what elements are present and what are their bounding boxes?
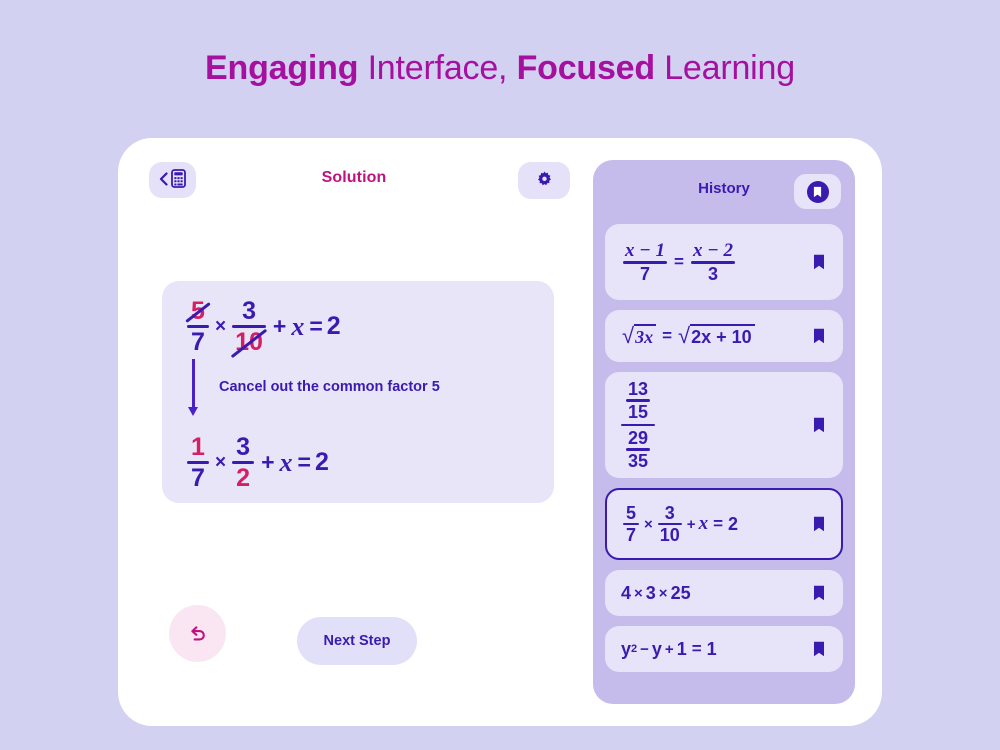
- fraction-3-over-10: 3 10: [658, 503, 682, 546]
- fraction-5-over-7: 5 7: [187, 297, 209, 356]
- equals-symbol: =: [713, 514, 723, 534]
- next-step-button[interactable]: Next Step: [297, 617, 417, 665]
- history-item-expression: 5 7 × 3 10 + x = 2: [621, 503, 811, 546]
- history-item-expression: y 2 − y + 1 = 1: [621, 639, 811, 660]
- fraction-3-over-2: 3 2: [232, 433, 254, 492]
- history-item-expression: 13 15 29 35: [621, 379, 811, 471]
- term-1: 1: [677, 639, 687, 660]
- topbar: Solution: [118, 138, 590, 218]
- solution-pane: Solution 5 7 ×: [118, 138, 590, 726]
- fraction-numerator: 3: [663, 503, 677, 523]
- fraction-1-over-7: 1 7: [187, 433, 209, 492]
- fraction-denominator: 7: [638, 264, 652, 284]
- radicand: 3x: [634, 324, 656, 348]
- arrow-down-icon: [192, 359, 195, 409]
- fraction-numerator: 1: [188, 433, 208, 461]
- equals-symbol: =: [662, 326, 672, 346]
- equation-before: 5 7 × 3 10 + x = 2: [186, 297, 341, 356]
- fraction-5-over-7: 5 7: [623, 503, 639, 546]
- headline-word-interface: Interface,: [368, 49, 508, 87]
- undo-arrow-icon: [187, 622, 208, 646]
- base-y: y: [621, 639, 631, 660]
- equals-symbol: =: [298, 449, 311, 476]
- solution-work-card: 5 7 × 3 10 + x = 2 Cancel out the: [162, 281, 554, 503]
- bookmarks-filter-button[interactable]: [794, 174, 841, 209]
- headline-word-focused: Focused: [517, 49, 655, 87]
- fraction-numerator: 5: [188, 297, 208, 325]
- history-header: History: [593, 160, 855, 224]
- radical-sign-icon: √: [622, 324, 634, 348]
- arrow-head-icon: [188, 407, 198, 416]
- fraction-upper: 13 15: [626, 379, 650, 422]
- fraction-denominator: 10: [658, 525, 682, 545]
- bookmark-icon[interactable]: [811, 641, 827, 657]
- history-item-4[interactable]: 5 7 × 3 10 + x = 2: [605, 488, 843, 560]
- history-item-expression: √ 3x = √ 2x + 10: [621, 324, 811, 348]
- fraction-denominator: 2: [233, 464, 253, 492]
- multiply-symbol: ×: [215, 316, 226, 338]
- variable-x: x: [280, 448, 293, 478]
- fraction-lower: 29 35: [626, 428, 650, 471]
- plus-symbol: +: [665, 641, 674, 658]
- fraction-denominator: 3: [706, 264, 720, 284]
- undo-button[interactable]: [169, 605, 226, 662]
- history-item-2[interactable]: √ 3x = √ 2x + 10: [605, 310, 843, 362]
- fraction-numerator: 3: [239, 297, 259, 325]
- multiply-symbol: ×: [215, 452, 226, 474]
- multiply-symbol: ×: [634, 585, 643, 602]
- fraction-numerator: x − 2: [691, 240, 735, 261]
- settings-button[interactable]: [518, 162, 570, 199]
- radical-left: √ 3x: [622, 324, 656, 348]
- factor-3: 25: [671, 583, 691, 604]
- fraction-numerator: 29: [626, 428, 650, 448]
- page-headline: Engaging Interface, Focused Learning: [0, 46, 1000, 90]
- multiply-symbol: ×: [659, 585, 668, 602]
- fraction-denominator: 7: [624, 525, 638, 545]
- fraction-numerator: 5: [624, 503, 638, 523]
- fraction-denominator: 35: [626, 451, 650, 471]
- headline-word-engaging: Engaging: [205, 49, 358, 87]
- variable-x: x: [291, 312, 304, 342]
- gear-icon: [536, 171, 553, 191]
- equation-result: 2: [327, 312, 341, 341]
- factor-1: 4: [621, 583, 631, 604]
- fraction-denominator: 10: [232, 328, 266, 356]
- fraction-right: x − 2 3: [691, 240, 735, 284]
- variable-x: x: [699, 513, 709, 535]
- fraction-3-over-10: 3 10: [232, 297, 266, 356]
- expression-result: 2: [728, 514, 738, 535]
- bookmark-icon[interactable]: [811, 417, 827, 433]
- equation-result: 2: [315, 448, 329, 477]
- main-fraction-bar: [621, 424, 655, 427]
- fraction-numerator: 13: [626, 379, 650, 399]
- step-note-text: Cancel out the common factor 5: [219, 379, 440, 395]
- fraction-left: x − 1 7: [623, 240, 667, 284]
- fraction-denominator: 15: [626, 402, 650, 422]
- radical-sign-icon: √: [678, 324, 690, 348]
- minus-symbol: −: [640, 641, 649, 658]
- equals-symbol: =: [692, 639, 702, 659]
- fraction-denominator: 7: [188, 328, 208, 356]
- nested-fraction: 13 15 29 35: [621, 379, 655, 471]
- bookmark-icon[interactable]: [811, 328, 827, 344]
- headline-word-learning: Learning: [664, 49, 795, 87]
- bookmark-filled-icon: [807, 181, 829, 203]
- bookmark-icon[interactable]: [811, 585, 827, 601]
- equals-symbol: =: [309, 313, 322, 340]
- fraction-numerator: 3: [233, 433, 253, 461]
- bookmark-icon[interactable]: [811, 516, 827, 532]
- fraction-denominator: 7: [188, 464, 208, 492]
- equals-symbol: =: [674, 252, 684, 272]
- history-item-expression: 4 × 3 × 25: [621, 583, 811, 604]
- radicand: 2x + 10: [690, 324, 755, 348]
- history-panel: History x − 1 7 =: [593, 160, 855, 704]
- history-item-3[interactable]: 13 15 29 35: [605, 372, 843, 478]
- history-item-1[interactable]: x − 1 7 = x − 2 3: [605, 224, 843, 300]
- plus-symbol: +: [687, 516, 696, 533]
- radical-right: √ 2x + 10: [678, 324, 755, 348]
- history-item-6[interactable]: y 2 − y + 1 = 1: [605, 626, 843, 672]
- bookmark-icon[interactable]: [811, 254, 827, 270]
- plus-symbol: +: [261, 449, 274, 476]
- step-explanation: Cancel out the common factor 5: [192, 359, 532, 421]
- history-item-5[interactable]: 4 × 3 × 25: [605, 570, 843, 616]
- equation-after: 1 7 × 3 2 + x = 2: [186, 433, 329, 492]
- term-y: y: [652, 639, 662, 660]
- app-window: Solution 5 7 ×: [118, 138, 882, 726]
- expression-result: 1: [707, 639, 717, 660]
- fraction-numerator: x − 1: [623, 240, 667, 261]
- multiply-symbol: ×: [644, 516, 653, 533]
- factor-2: 3: [646, 583, 656, 604]
- plus-symbol: +: [273, 313, 286, 340]
- history-list: x − 1 7 = x − 2 3: [605, 224, 843, 682]
- history-item-expression: x − 1 7 = x − 2 3: [621, 240, 811, 284]
